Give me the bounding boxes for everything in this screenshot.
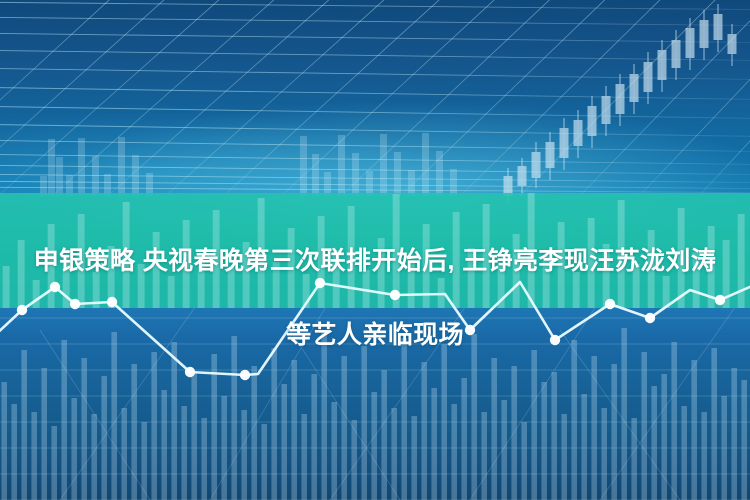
headline-line-2: 等艺人亲临现场 <box>0 317 750 354</box>
banner-headline: 申银策略 央视春晚第三次联排开始后, 王铮亮李现汪苏泷刘涛 等艺人亲临现场 <box>0 206 750 391</box>
banner-image: 申银策略 央视春晚第三次联排开始后, 王铮亮李现汪苏泷刘涛 等艺人亲临现场 <box>0 0 750 500</box>
headline-line-1: 申银策略 央视春晚第三次联排开始后, 王铮亮李现汪苏泷刘涛 <box>0 243 750 280</box>
